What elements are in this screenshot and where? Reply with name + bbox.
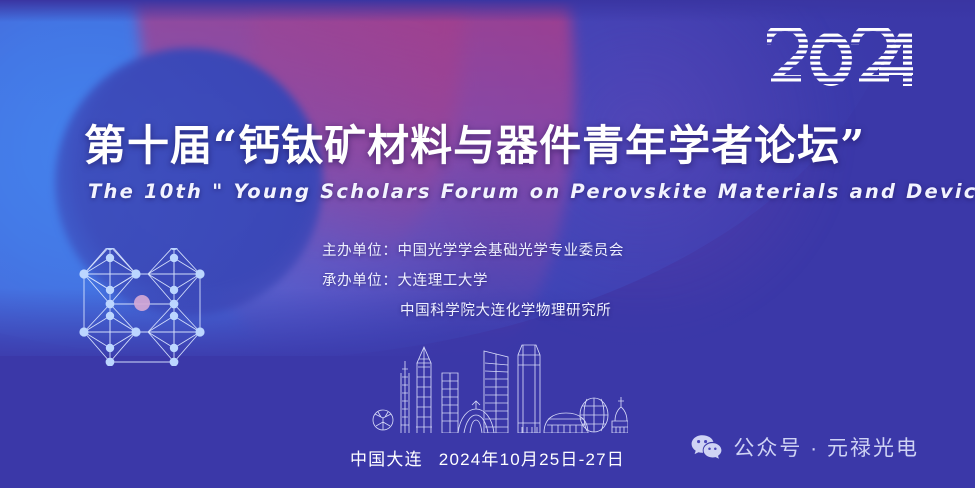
poster-title-english: The 10th " Young Scholars Forum on Perov… — [88, 180, 975, 203]
organizer-block: 主办单位：中国光学学会基础光学专业委员会 承办单位：大连理工大学 中国科学院大连… — [322, 236, 624, 326]
wechat-account-tag: 公众号 · 元禄光电 — [691, 432, 919, 462]
wechat-account-text: 公众号 · 元禄光电 — [733, 432, 919, 462]
footer-dates: 2024年10月25日-27日 — [439, 450, 625, 469]
organizer-value-host: 中国光学学会基础光学专业委员会 — [398, 243, 625, 259]
organizer-value-undertaker-second: 中国科学院大连化学物理研究所 — [400, 303, 611, 319]
top-shadow-strip — [0, 0, 975, 22]
organizer-value-undertaker: 大连理工大学 — [398, 273, 489, 289]
wechat-icon — [691, 434, 722, 460]
organizer-row-undertaker: 承办单位：大连理工大学 — [322, 266, 624, 296]
perovskite-lattice-icon — [72, 248, 212, 366]
event-poster: 第十届“钙钛矿材料与器件青年学者论坛” The 10th " Young Sch… — [0, 0, 975, 488]
footer-city: 中国大连 — [350, 450, 423, 469]
dalian-skyline-illustration — [372, 343, 628, 433]
organizer-row-host: 主办单位：中国光学学会基础光学专业委员会 — [322, 236, 624, 266]
poster-title-chinese: 第十届“钙钛矿材料与器件青年学者论坛” — [84, 112, 865, 173]
organizer-label-undertaker: 承办单位： — [322, 273, 398, 289]
organizer-row-undertaker-second: 中国科学院大连化学物理研究所 — [322, 296, 624, 326]
organizer-label-host: 主办单位： — [322, 243, 398, 259]
year-2024-mark — [767, 28, 913, 86]
